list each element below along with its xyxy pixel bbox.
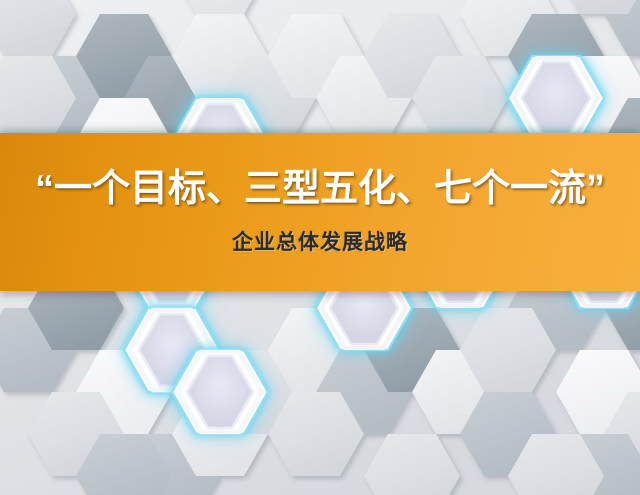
title-banner: “一个目标、三型五化、七个一流” 企业总体发展战略 <box>0 133 640 291</box>
slide-title: “一个目标、三型五化、七个一流” <box>35 168 605 211</box>
slide-subtitle: 企业总体发展战略 <box>232 226 408 256</box>
presentation-slide: “一个目标、三型五化、七个一流” 企业总体发展战略 <box>0 0 640 495</box>
